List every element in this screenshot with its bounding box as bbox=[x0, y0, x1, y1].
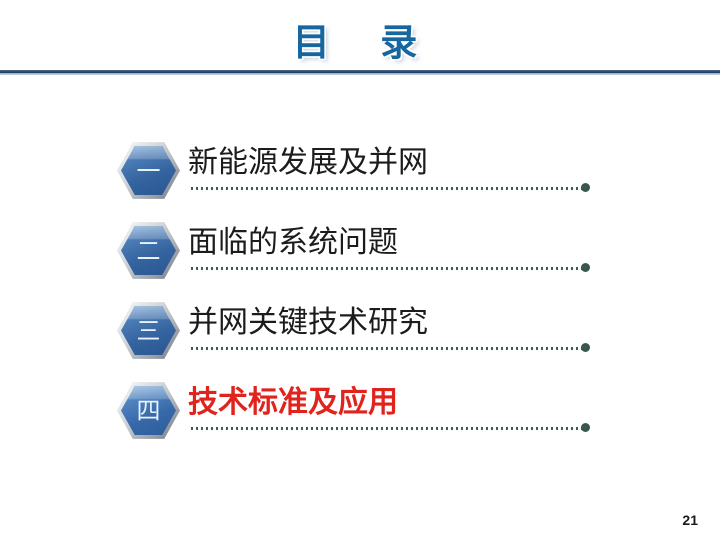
toc-item-label: 新能源发展及并网 bbox=[188, 142, 428, 184]
page-title: 目 录 bbox=[293, 18, 428, 68]
toc-item-end-dot-icon bbox=[581, 263, 590, 272]
toc-item-label: 技术标准及应用 bbox=[188, 382, 398, 424]
toc-item-dotted-leader bbox=[191, 187, 583, 190]
toc-item-dotted-leader bbox=[191, 427, 583, 430]
toc-item-4[interactable]: 四技术标准及应用 bbox=[0, 370, 720, 450]
hexagon-badge-3[interactable]: 三 bbox=[117, 301, 180, 360]
hexagon-badge-2[interactable]: 二 bbox=[117, 221, 180, 280]
toc-item-end-dot-icon bbox=[581, 183, 590, 192]
slide-canvas: 目 录 一新能源发展及并网二面临的系统问题三并网关键技术研究四技术标准及应用 2… bbox=[0, 0, 720, 540]
title-divider bbox=[0, 70, 720, 76]
toc-item-end-dot-icon bbox=[581, 343, 590, 352]
toc-item-1[interactable]: 一新能源发展及并网 bbox=[0, 130, 720, 210]
hexagon-badge-1[interactable]: 一 bbox=[117, 141, 180, 200]
toc-item-end-dot-icon bbox=[581, 423, 590, 432]
slide-title-area: 目 录 bbox=[0, 18, 720, 70]
page-number: 21 bbox=[682, 512, 698, 528]
toc-item-number: 三 bbox=[117, 301, 180, 360]
toc-item-label: 并网关键技术研究 bbox=[188, 302, 428, 344]
toc-item-label: 面临的系统问题 bbox=[188, 222, 398, 264]
toc-item-2[interactable]: 二面临的系统问题 bbox=[0, 210, 720, 290]
divider-line-light bbox=[0, 73, 720, 75]
toc-item-dotted-leader bbox=[191, 267, 583, 270]
hexagon-badge-4[interactable]: 四 bbox=[117, 381, 180, 440]
toc-item-dotted-leader bbox=[191, 347, 583, 350]
toc-item-number: 一 bbox=[117, 141, 180, 200]
toc-item-number: 二 bbox=[117, 221, 180, 280]
toc-list: 一新能源发展及并网二面临的系统问题三并网关键技术研究四技术标准及应用 bbox=[0, 130, 720, 450]
toc-item-number: 四 bbox=[117, 381, 180, 440]
toc-item-3[interactable]: 三并网关键技术研究 bbox=[0, 290, 720, 370]
